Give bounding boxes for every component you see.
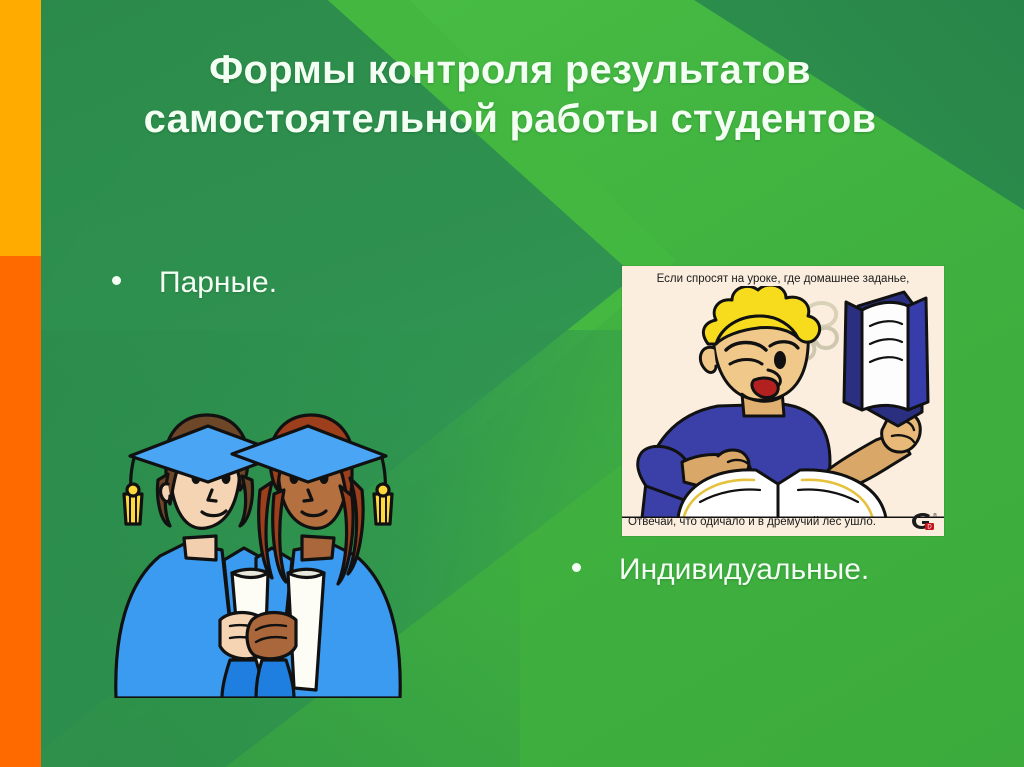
accent-stripe-orange xyxy=(0,256,41,767)
bullet-label: Индивидуальные. xyxy=(619,552,869,588)
accent-stripe-amber xyxy=(0,0,41,256)
presentation-slide: Формы контроля результатов самостоятельн… xyxy=(0,0,1024,767)
bullet-dot-icon xyxy=(572,563,581,572)
bullet-item-parnye: Парные. xyxy=(112,265,277,301)
cartoon-artwork xyxy=(622,286,944,518)
cartoon-picture: Если спросят на уроке, где домашнее зада… xyxy=(622,266,944,536)
slide-title: Формы контроля результатов самостоятельн… xyxy=(110,46,910,144)
svg-text:D: D xyxy=(927,525,932,531)
graduates-illustration xyxy=(112,398,404,698)
left-accent-stripe xyxy=(0,0,41,767)
cartoon-caption-bottom: Отвечай, что одичало и в дремучий лес уш… xyxy=(628,516,876,528)
cartoon-caption-top: Если спросят на уроке, где домашнее зада… xyxy=(622,273,944,285)
svg-text:®: ® xyxy=(933,512,937,519)
bullet-label: Парные. xyxy=(159,265,277,301)
watermark-logo-icon: D ® xyxy=(910,511,938,531)
bullet-item-individualnye: Индивидуальные. xyxy=(572,552,869,588)
bullet-dot-icon xyxy=(112,276,121,285)
